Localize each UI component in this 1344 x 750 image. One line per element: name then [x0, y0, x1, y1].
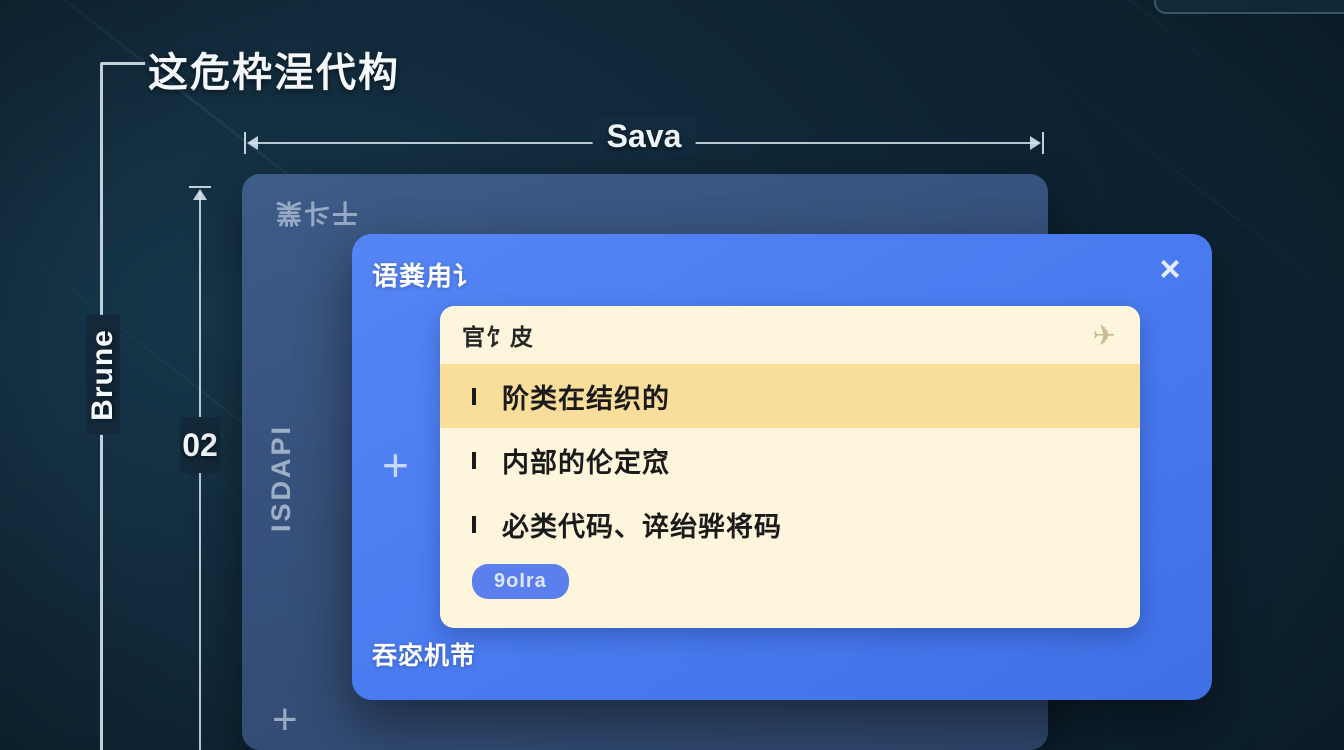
height-dimension: 02 [185, 186, 215, 750]
modal-title: 语粪甪讠 [372, 256, 480, 293]
page-title: 这危枠浧代构 [148, 40, 400, 98]
bullet-icon [472, 516, 476, 533]
arrow-left-icon [247, 136, 258, 150]
modal-add-icon[interactable]: + [382, 442, 409, 488]
back-panel-title: 干斗業 [274, 196, 358, 233]
status-badge[interactable]: 9oIra [472, 564, 569, 599]
arrow-right-icon [1030, 136, 1041, 150]
width-dimension: Sava [244, 128, 1044, 158]
card-header: 官饣皮 ✈ [440, 306, 1140, 364]
list-item[interactable]: 必类代码、谇绐骅将码 [440, 492, 1140, 556]
list-item[interactable]: 内部的伦定窊 [440, 428, 1140, 492]
card-item-list: 阶类在结织的 内部的伦定窊 必类代码、谇绐骅将码 [440, 364, 1140, 556]
arrow-up-icon [193, 189, 207, 200]
close-icon[interactable]: × [1150, 250, 1190, 290]
list-item-label: 必类代码、谇绐骅将码 [502, 505, 782, 544]
card-badge-row: 9oIra [440, 556, 1140, 599]
width-dimension-label: Sava [593, 116, 696, 156]
screen-root: 这危枠浧代构 Sava 02 Brune 干斗業 ISDAPI + 语粪甪讠 ×… [0, 0, 1344, 750]
send-icon[interactable]: ✈ [1093, 324, 1116, 348]
height-dimension-label: 02 [180, 417, 220, 473]
modal-dialog: 语粪甪讠 × + 官饣皮 ✈ 阶类在结织的 内部的伦定窊 必类代码、谇绐骅将码 [352, 234, 1212, 700]
dimension-cap-top [189, 186, 211, 188]
bullet-icon [472, 452, 476, 469]
list-item[interactable]: 阶类在结织的 [440, 364, 1140, 428]
list-item-label: 内部的伦定窊 [502, 441, 670, 480]
bullet-icon [472, 388, 476, 405]
back-panel-add-icon[interactable]: + [272, 698, 298, 742]
dimension-cap-left [244, 132, 246, 154]
side-axis-label: Brune [86, 315, 120, 435]
card-header-title: 官饣皮 [462, 318, 534, 352]
dimension-cap-right [1042, 132, 1044, 154]
content-card: 官饣皮 ✈ 阶类在结织的 内部的伦定窊 必类代码、谇绐骅将码 9oIra [440, 306, 1140, 628]
modal-footer-label: 吞宓机芾 [372, 636, 476, 672]
top-right-frame-outline [1154, 0, 1344, 14]
back-panel-side-label: ISDAPI [266, 424, 297, 532]
list-item-label: 阶类在结织的 [502, 377, 670, 416]
